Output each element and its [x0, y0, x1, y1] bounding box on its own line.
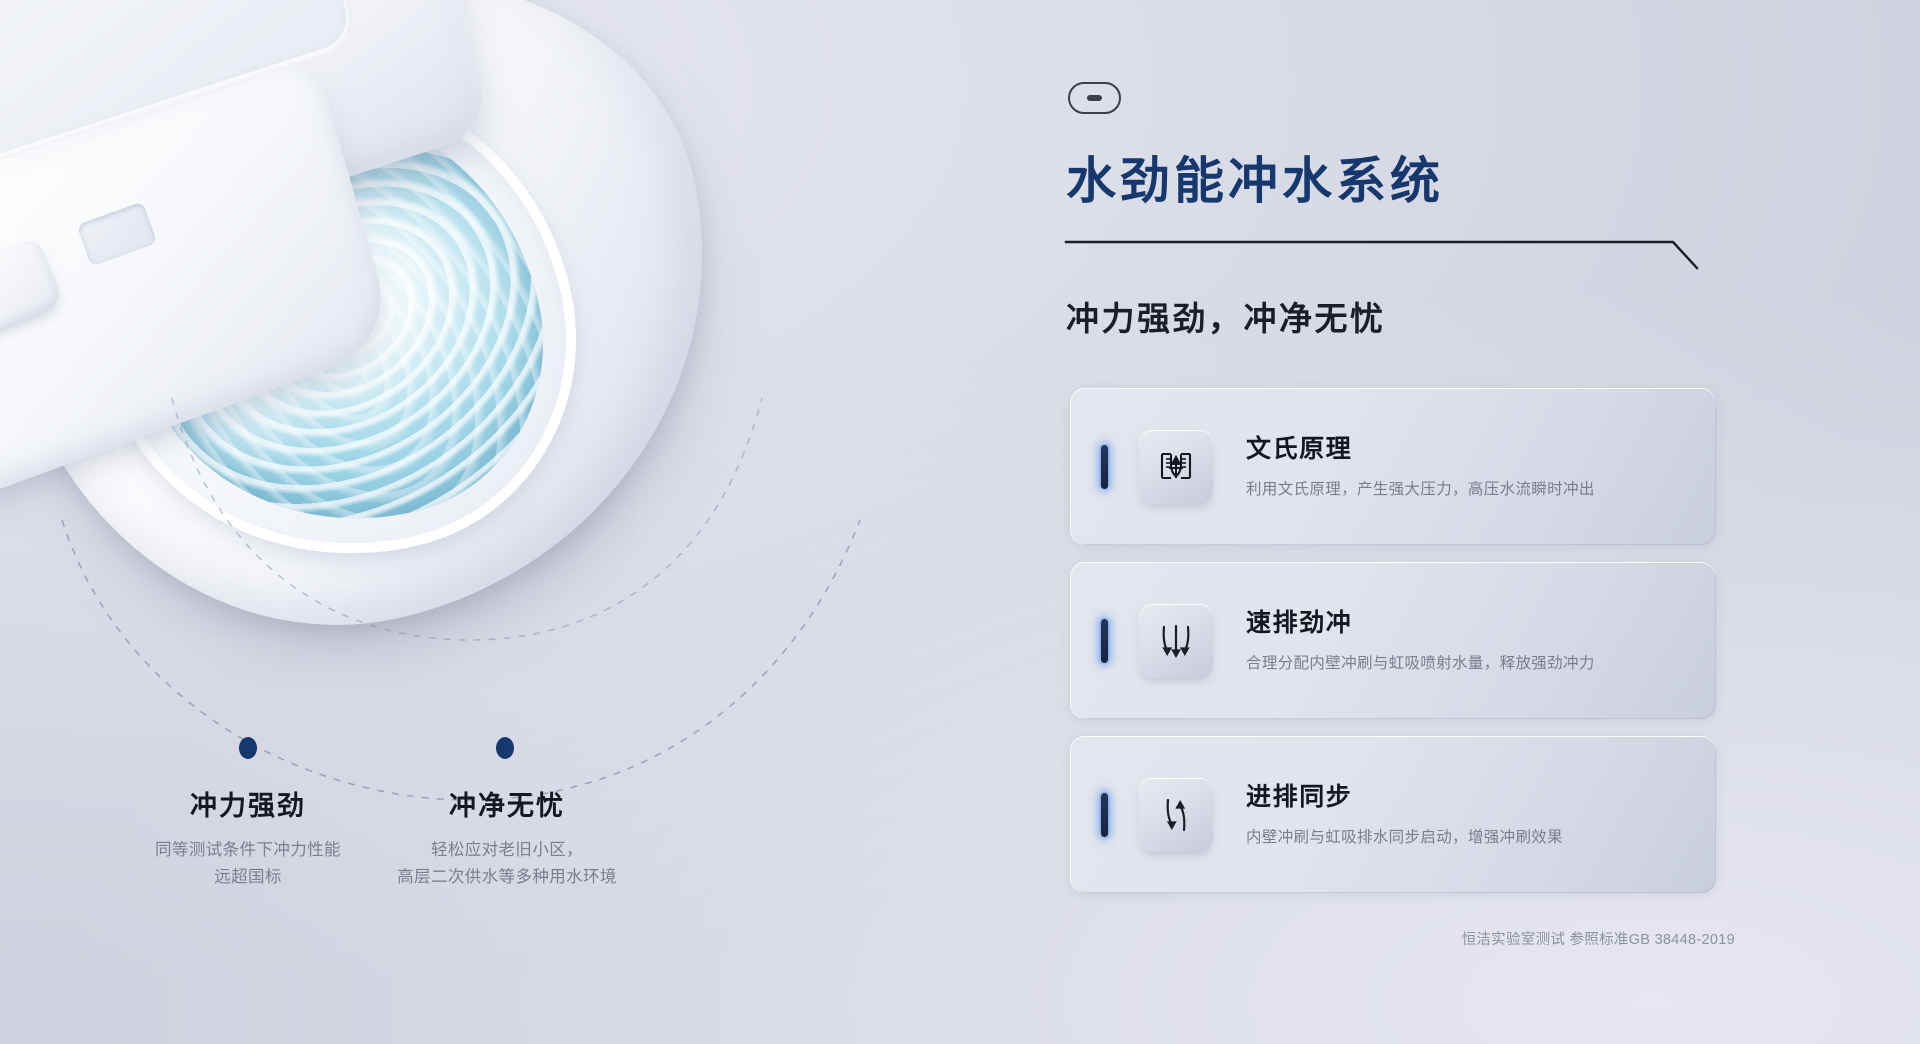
feature-card[interactable]: 速排劲冲 合理分配内壁冲刷与虹吸喷射水量，释放强劲冲力 [1070, 562, 1716, 719]
footnote: 恒洁实验室测试 参照标准GB 38448-2019 [1462, 928, 1735, 949]
card-accent-bar [1101, 793, 1108, 837]
feature-card-list: 文氏原理 利用文氏原理，产生强大压力，高压水流瞬时冲出 [1070, 388, 1730, 910]
venturi-nozzle-icon [1153, 444, 1199, 490]
pill-dash-icon [1068, 82, 1121, 114]
slide-root: 冲力强劲 同等测试条件下冲力性能 远超国标 冲净无忧 轻松应对老旧小区， 高层二… [0, 0, 1920, 1044]
card-icon-tile [1139, 604, 1213, 678]
card-text-group: 文氏原理 利用文氏原理，产生强大压力，高压水流瞬时冲出 [1246, 434, 1595, 499]
caption-description-line: 轻松应对老旧小区， [342, 837, 672, 864]
page-subtitle: 冲力强劲，冲净无忧 [1066, 292, 1386, 340]
card-text-group: 进排同步 内壁冲刷与虹吸排水同步启动，增强冲刷效果 [1246, 782, 1563, 847]
arc-dot-left [239, 737, 257, 759]
feature-card[interactable]: 进排同步 内壁冲刷与虹吸排水同步启动，增强冲刷效果 [1070, 736, 1716, 893]
caption-title: 冲净无忧 [342, 790, 672, 822]
card-accent-bar [1101, 445, 1108, 489]
three-down-arrows-icon [1153, 618, 1199, 664]
pill-dash-inner [1087, 95, 1102, 101]
card-description: 合理分配内壁冲刷与虹吸喷射水量，释放强劲冲力 [1246, 651, 1595, 673]
page-title: 水劲能冲水系统 [1066, 155, 1444, 208]
product-visual-panel: 冲力强劲 同等测试条件下冲力性能 远超国标 冲净无忧 轻松应对老旧小区， 高层二… [0, 0, 1000, 1044]
caption-description-line: 高层二次供水等多种用水环境 [342, 864, 672, 891]
up-down-arrows-icon [1153, 792, 1199, 838]
arc-dot-right [496, 737, 514, 759]
card-icon-tile [1139, 430, 1213, 504]
card-icon-tile [1139, 778, 1213, 852]
content-panel: 水劲能冲水系统 冲力强劲，冲净无忧 [1063, 0, 1743, 1044]
caption-description: 轻松应对老旧小区， 高层二次供水等多种用水环境 [342, 837, 672, 890]
feature-card[interactable]: 文氏原理 利用文氏原理，产生强大压力，高压水流瞬时冲出 [1070, 388, 1716, 545]
card-title: 速排劲冲 [1246, 608, 1595, 638]
card-description: 利用文氏原理，产生强大压力，高压水流瞬时冲出 [1246, 477, 1595, 499]
title-divider [1063, 236, 1723, 270]
card-text-group: 速排劲冲 合理分配内壁冲刷与虹吸喷射水量，释放强劲冲力 [1246, 608, 1595, 673]
card-title: 文氏原理 [1246, 434, 1595, 464]
card-accent-bar [1101, 619, 1108, 663]
card-description: 内壁冲刷与虹吸排水同步启动，增强冲刷效果 [1246, 825, 1563, 847]
card-title: 进排同步 [1246, 782, 1563, 812]
toilet-product-photo [0, 0, 830, 680]
caption-block-2: 冲净无忧 轻松应对老旧小区， 高层二次供水等多种用水环境 [342, 790, 672, 891]
